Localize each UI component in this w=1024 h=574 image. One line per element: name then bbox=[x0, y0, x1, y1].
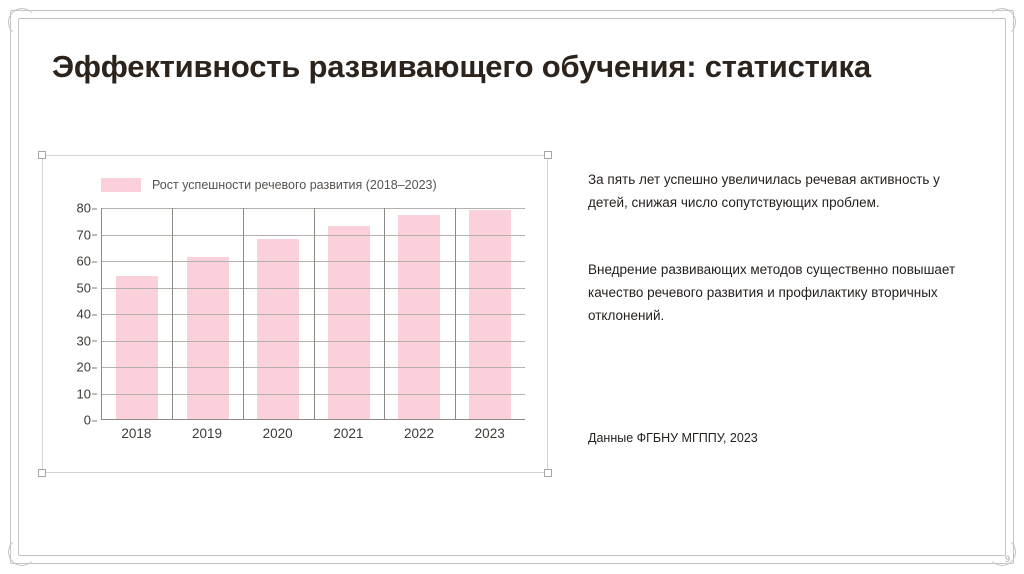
plot-area bbox=[101, 208, 525, 420]
y-axis-tick-label: 10 bbox=[77, 386, 91, 401]
frame-corner-mask-bottom-left bbox=[4, 548, 26, 570]
x-axis-tick-label: 2022 bbox=[384, 426, 455, 441]
chart-plot: 80706050403020100 2018201920202021202220… bbox=[43, 208, 547, 460]
frame-corner-mask-top-left bbox=[4, 4, 26, 26]
y-axis-tick-label: 70 bbox=[77, 227, 91, 242]
bar-2021[interactable] bbox=[328, 226, 370, 419]
frame-corner-arc-top-left bbox=[8, 8, 36, 36]
slide: Эффективность развивающего обучения: ста… bbox=[0, 0, 1024, 574]
legend-swatch-icon bbox=[101, 178, 141, 192]
y-axis-tick-mark bbox=[92, 341, 97, 342]
frame-corner-mask-top-right bbox=[998, 4, 1020, 26]
y-axis-tick-mark bbox=[92, 235, 97, 236]
gridline-vertical bbox=[172, 208, 173, 419]
y-axis-tick-mark bbox=[92, 261, 97, 262]
frame-corner-arc-bottom-right bbox=[988, 538, 1016, 566]
text-column: За пять лет успешно увеличилась речевая … bbox=[588, 168, 980, 327]
y-axis-tick-mark bbox=[92, 420, 97, 421]
bar-2018[interactable] bbox=[116, 276, 158, 419]
y-axis-tick-label: 30 bbox=[77, 333, 91, 348]
y-axis-tick-label: 20 bbox=[77, 360, 91, 375]
x-axis-tick-label: 2020 bbox=[242, 426, 313, 441]
y-axis-tick-label: 80 bbox=[77, 201, 91, 216]
y-axis-tick-label: 60 bbox=[77, 254, 91, 269]
gridline-vertical bbox=[455, 208, 456, 419]
gridline-vertical bbox=[314, 208, 315, 419]
x-axis-tick-label: 2019 bbox=[172, 426, 243, 441]
page-title: Эффективность развивающего обучения: ста… bbox=[52, 46, 982, 88]
y-axis: 80706050403020100 bbox=[61, 208, 97, 420]
x-axis-tick-label: 2021 bbox=[313, 426, 384, 441]
frame-corner-arc-bottom-left bbox=[8, 538, 36, 566]
bar-2022[interactable] bbox=[398, 215, 440, 419]
legend-label: Рост успешности речевого развития (2018–… bbox=[152, 178, 437, 192]
selection-handle-bottom-right[interactable] bbox=[544, 469, 552, 477]
body-paragraph-2: Внедрение развивающих методов существенн… bbox=[588, 258, 980, 327]
x-axis-tick-label: 2023 bbox=[454, 426, 525, 441]
y-axis-tick-label: 50 bbox=[77, 280, 91, 295]
chart-legend: Рост успешности речевого развития (2018–… bbox=[101, 178, 437, 192]
selection-handle-top-right[interactable] bbox=[544, 151, 552, 159]
body-paragraph-1: За пять лет успешно увеличилась речевая … bbox=[588, 168, 980, 214]
y-axis-tick-label: 0 bbox=[84, 413, 91, 428]
source-note: Данные ФГБНУ МГППУ, 2023 bbox=[588, 429, 758, 447]
page-number: 9 bbox=[1005, 554, 1010, 564]
y-axis-tick-mark bbox=[92, 208, 97, 209]
bar-2020[interactable] bbox=[257, 239, 299, 419]
bar-2019[interactable] bbox=[187, 257, 229, 419]
y-axis-tick-mark bbox=[92, 394, 97, 395]
gridline-vertical bbox=[384, 208, 385, 419]
y-axis-tick-mark bbox=[92, 367, 97, 368]
selection-handle-top-left[interactable] bbox=[38, 151, 46, 159]
gridline-vertical bbox=[243, 208, 244, 419]
y-axis-tick-label: 40 bbox=[77, 307, 91, 322]
chart-object[interactable]: Рост успешности речевого развития (2018–… bbox=[42, 155, 548, 473]
x-axis: 201820192020202120222023 bbox=[101, 426, 525, 441]
frame-corner-arc-top-right bbox=[988, 8, 1016, 36]
y-axis-tick-mark bbox=[92, 288, 97, 289]
y-axis-tick-mark bbox=[92, 314, 97, 315]
selection-handle-bottom-left[interactable] bbox=[38, 469, 46, 477]
x-axis-tick-label: 2018 bbox=[101, 426, 172, 441]
